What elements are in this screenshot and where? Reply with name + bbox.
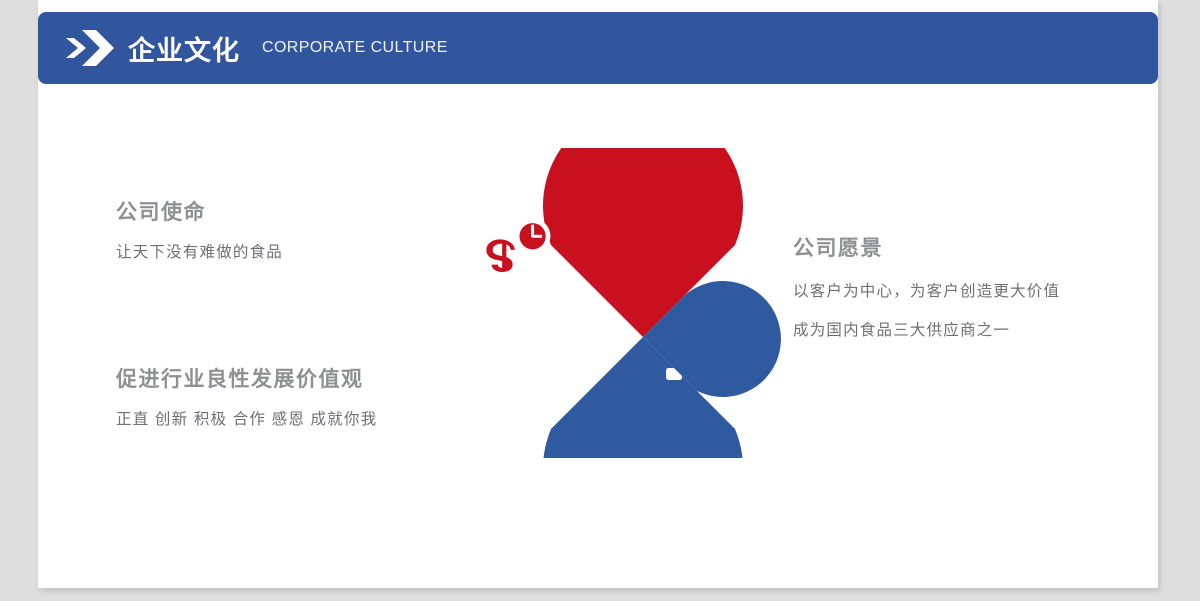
mission-heading: 公司使命 — [116, 196, 283, 226]
text-block-vision: 公司愿景 以客户为中心，为客户创造更大价值 成为国内食品三大供应商之一 — [793, 232, 1060, 340]
vision-line-1: 以客户为中心，为客户创造更大价值 — [793, 279, 1060, 301]
page-title-en: CORPORATE CULTURE — [262, 39, 448, 57]
slide-panel: 企业文化 CORPORATE CULTURE — [38, 0, 1158, 588]
target-dart-icon — [505, 358, 568, 411]
header-bar: 企业文化 CORPORATE CULTURE — [38, 12, 1158, 84]
money-bag-clock-icon — [478, 215, 550, 275]
vision-line-2: 成为国内食品三大供应商之一 — [793, 318, 1060, 340]
text-block-values: 促进行业良性发展价值观 正直 创新 积极 合作 感恩 成就你我 — [116, 363, 377, 429]
text-block-mission: 公司使命 让天下没有难做的食品 — [116, 196, 283, 262]
page-title-cn: 企业文化 — [128, 29, 240, 68]
double-chevron-right-icon — [66, 28, 124, 68]
vision-heading: 公司愿景 — [793, 232, 1060, 262]
values-heading: 促进行业良性发展价值观 — [116, 363, 377, 393]
mission-line-1: 让天下没有难做的食品 — [116, 240, 283, 262]
values-line-1: 正直 创新 积极 合作 感恩 成就你我 — [116, 407, 377, 429]
culture-diagram — [378, 148, 798, 458]
